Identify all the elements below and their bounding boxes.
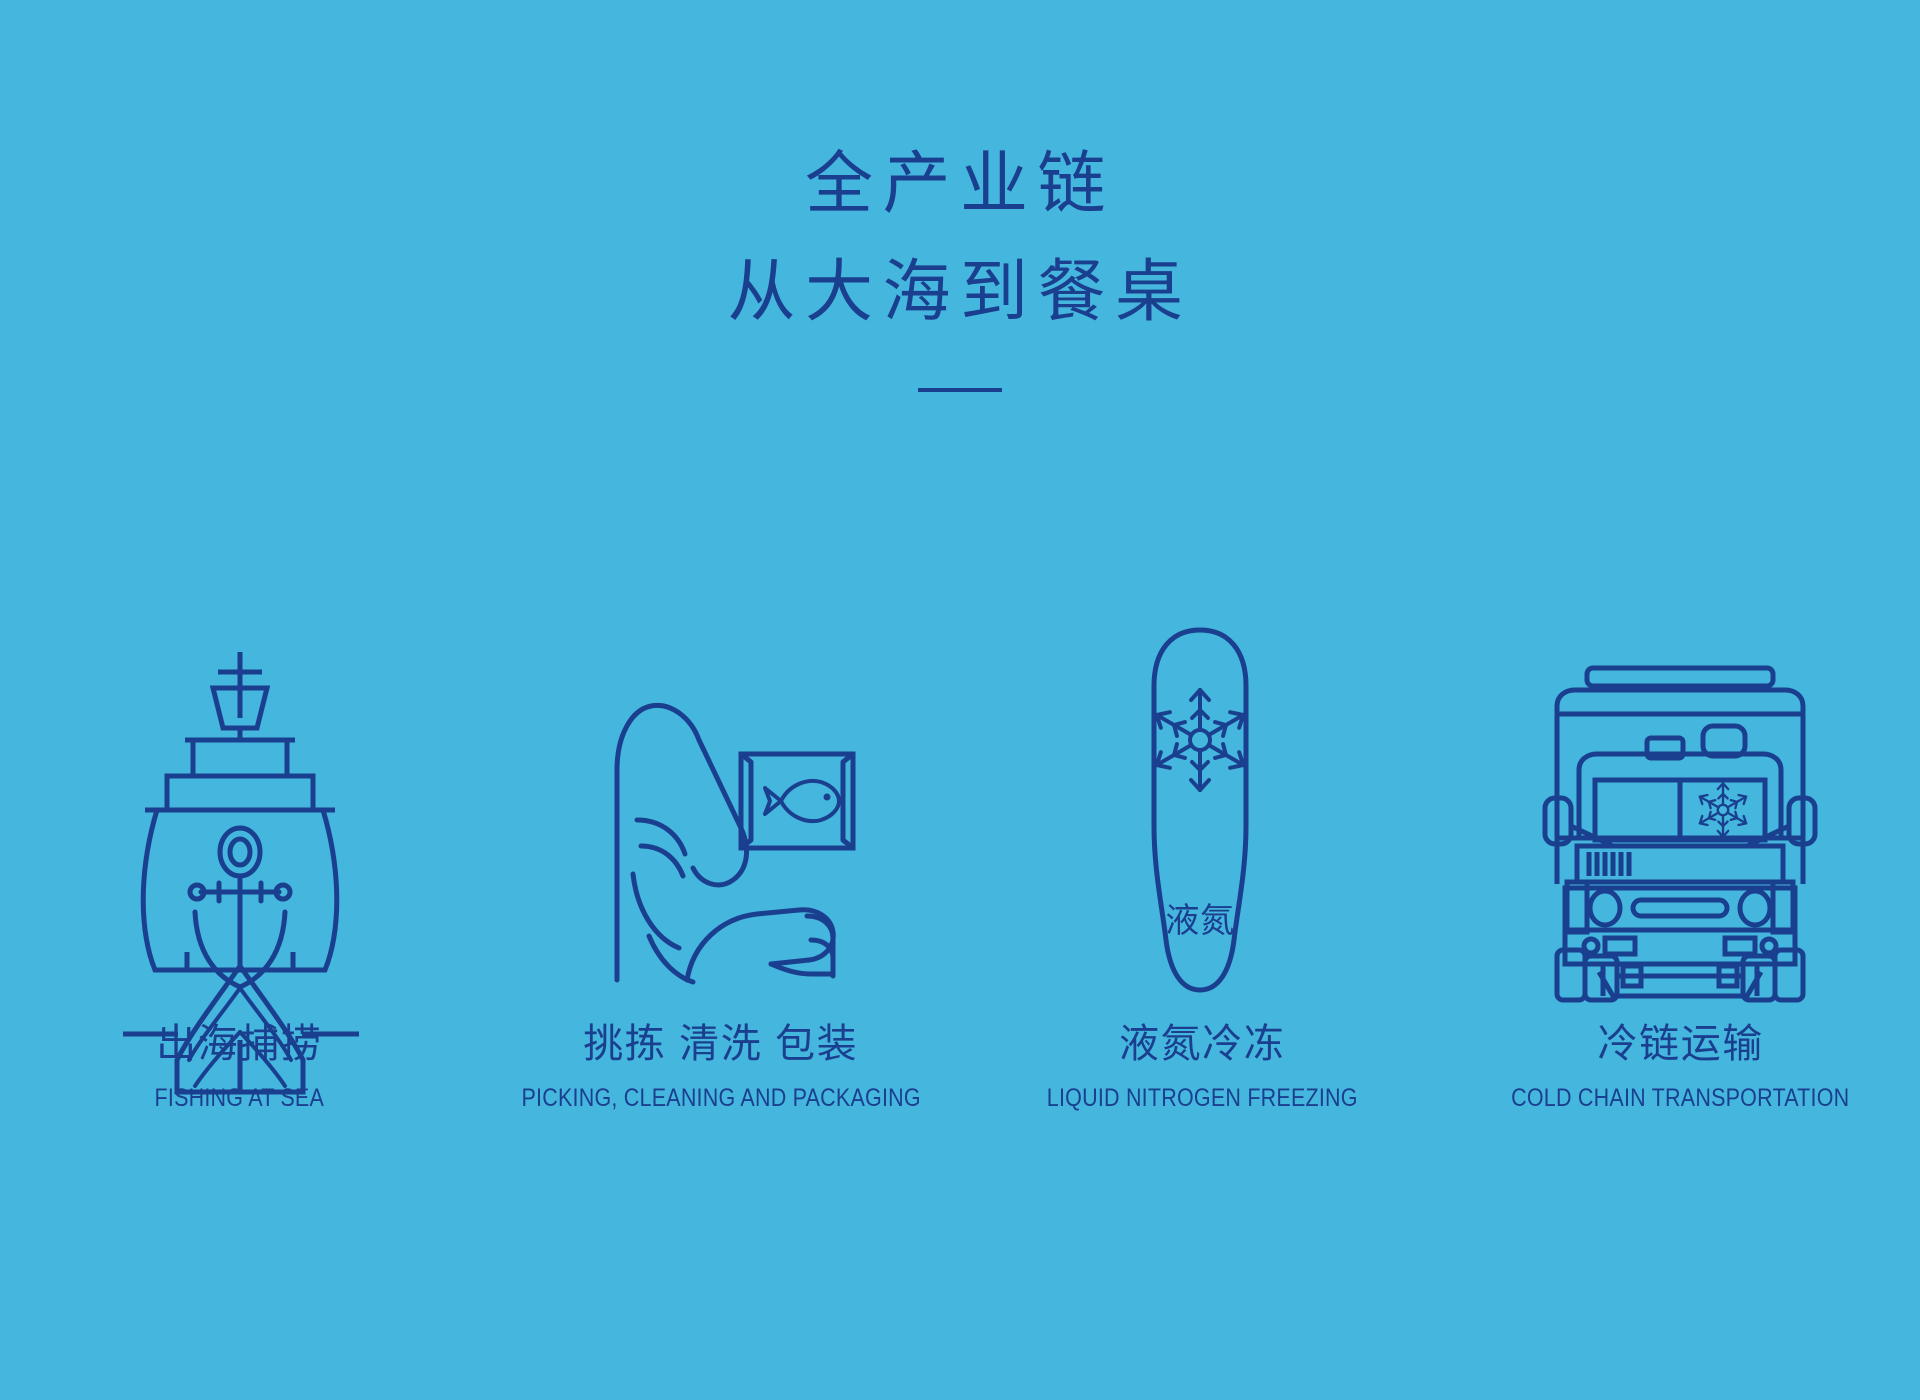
caption-cn-cold-chain-transportation: 冷链运输 [1451,1020,1910,1068]
step-4-icon-cell [1440,520,1920,1000]
refrigerated-truck-icon [1535,660,1825,1000]
caption-cn-picking-cleaning-packaging: 挑拣 清洗 包装 [489,1020,953,1068]
caption-en-fishing-at-sea: FISHING AT SEA [42,1084,436,1113]
caption-cn-fishing-at-sea: 出海捕捞 [10,1020,469,1068]
hands-fish-package-icon [575,670,865,1000]
page-title-secondary: 从大海到餐桌 [0,258,1920,326]
steps-icon-row: 液氮 [0,520,1920,1000]
caption-step-1: 出海捕捞 FISHING AT SEA [0,1020,479,1113]
caption-en-cold-chain-transportation: COLD CHAIN TRANSPORTATION [1484,1084,1878,1113]
step-3-icon-cell: 液氮 [960,520,1440,1000]
title-divider [918,388,1002,392]
steps-caption-row: 出海捕捞 FISHING AT SEA 挑拣 清洗 包装 PICKING, CL… [0,1020,1920,1113]
snowflake-icon [1697,783,1748,836]
header: 全产业链 从大海到餐桌 [0,150,1920,392]
caption-step-3: 液氮冷冻 LIQUID NITROGEN FREEZING [963,1020,1442,1113]
fishing-boat-icon [115,640,365,1000]
caption-en-picking-cleaning-packaging: PICKING, CLEANING AND PACKAGING [521,1084,920,1113]
infographic-stage: 全产业链 从大海到餐桌 [0,0,1920,1400]
page-title-primary: 全产业链 [0,150,1920,218]
caption-en-liquid-nitrogen-freezing: LIQUID NITROGEN FREEZING [1005,1084,1399,1113]
caption-step-4: 冷链运输 COLD CHAIN TRANSPORTATION [1441,1020,1920,1113]
caption-cn-liquid-nitrogen-freezing: 液氮冷冻 [973,1020,1432,1068]
step-2-icon-cell [480,520,960,1000]
step-1-icon-cell [0,520,480,1000]
caption-step-2: 挑拣 清洗 包装 PICKING, CLEANING AND PACKAGING [479,1020,963,1113]
liquid-nitrogen-tank-icon: 液氮 [1110,620,1290,1000]
tank-label-text: 液氮 [1165,902,1234,940]
snowflake-icon [1152,690,1248,790]
